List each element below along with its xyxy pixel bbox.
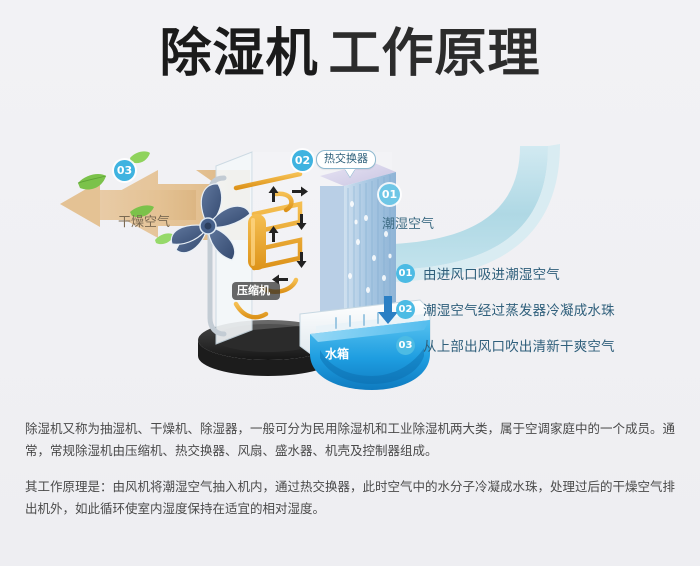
heat-exchanger-callout: 热交换器 bbox=[316, 150, 376, 169]
legend-item-03: 03 从上部出风口吹出清新干爽空气 bbox=[396, 327, 676, 363]
humid-air-label: 潮湿空气 bbox=[382, 213, 434, 232]
water-tank-label: 水箱 bbox=[325, 345, 349, 362]
legend-badge-01: 01 bbox=[396, 264, 415, 283]
legend-badge-02: 02 bbox=[396, 300, 415, 319]
callout-tail-icon bbox=[345, 169, 355, 177]
badge-01-diagram: 01 bbox=[379, 184, 400, 205]
legend-item-02: 02 潮湿空气经过蒸发器冷凝成水珠 bbox=[396, 291, 676, 327]
body-paragraph-2: 其工作原理是：由风机将潮湿空气抽入机内，通过热交换器，此时空气中的水分子冷凝成水… bbox=[25, 476, 680, 520]
legend-text-03: 从上部出风口吹出清新干爽空气 bbox=[423, 335, 615, 355]
body-paragraph-1: 除湿机又称为抽湿机、干燥机、除湿器，一般可分为民用除湿机和工业除湿机两大类，属于… bbox=[25, 418, 680, 462]
legend-list: 01 由进风口吸进潮湿空气 02 潮湿空气经过蒸发器冷凝成水珠 03 从上部出风… bbox=[396, 255, 676, 363]
badge-02-diagram: 02 bbox=[292, 150, 313, 171]
badge-03-diagram: 03 bbox=[114, 160, 135, 181]
heat-exchanger-label: 热交换器 bbox=[324, 152, 368, 165]
body-copy: 除湿机又称为抽湿机、干燥机、除湿器，一般可分为民用除湿机和工业除湿机两大类，属于… bbox=[25, 418, 680, 520]
legend-badge-03: 03 bbox=[396, 336, 415, 355]
compressor-label: 压缩机 bbox=[237, 282, 270, 298]
page-title-part2: 工作原理 bbox=[329, 28, 541, 80]
page-title: 除湿机工作原理 bbox=[0, 28, 700, 80]
legend-text-01: 由进风口吸进潮湿空气 bbox=[423, 263, 560, 283]
compressor-cylinder bbox=[248, 214, 266, 270]
dry-air-label: 干燥空气 bbox=[118, 211, 170, 230]
infographic-root: 除湿机工作原理 bbox=[0, 0, 700, 566]
page-title-part1: 除湿机 bbox=[159, 28, 318, 80]
legend-text-02: 潮湿空气经过蒸发器冷凝成水珠 bbox=[423, 299, 615, 319]
legend-item-01: 01 由进风口吸进潮湿空气 bbox=[396, 255, 676, 291]
